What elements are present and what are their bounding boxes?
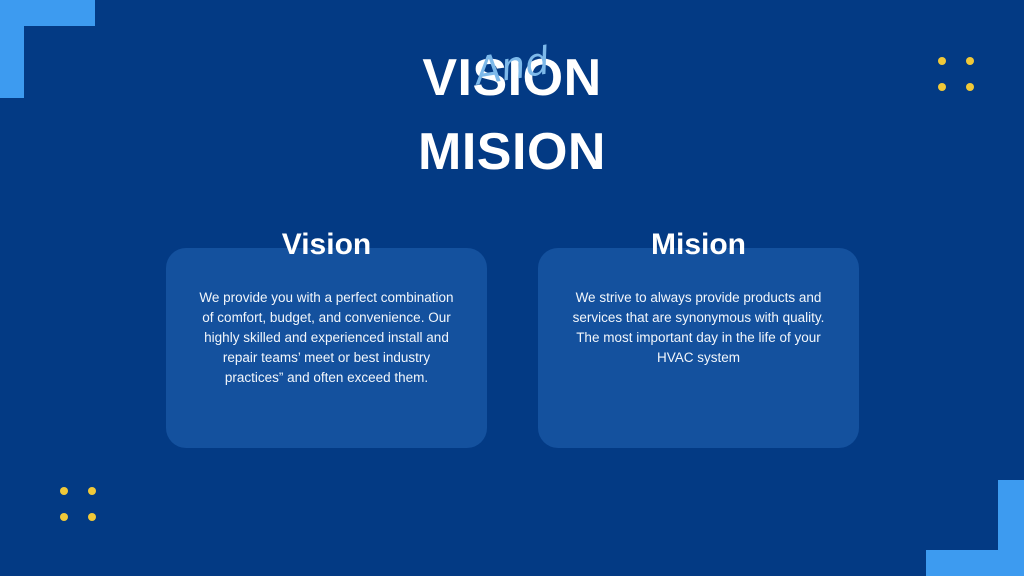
dot bbox=[88, 487, 96, 495]
card-mision-heading: Mision bbox=[538, 228, 859, 262]
card-vision-body: We provide you with a perfect combinatio… bbox=[192, 288, 461, 388]
title-line-mision: MISION bbox=[0, 126, 1024, 178]
title-line-vision: VISION bbox=[0, 52, 1024, 104]
slide-title: VISION MISION bbox=[0, 52, 1024, 178]
card-vision-heading: Vision bbox=[166, 228, 487, 262]
dot bbox=[60, 487, 68, 495]
card-vision: Vision We provide you with a perfect com… bbox=[166, 248, 487, 448]
dot bbox=[60, 513, 68, 521]
card-mision-body: We strive to always provide products and… bbox=[564, 288, 833, 368]
card-mision: Mision We strive to always provide produ… bbox=[538, 248, 859, 448]
dot-grid-bottom-left-icon bbox=[60, 487, 96, 521]
slide-canvas: VISION MISION And Vision We provide you … bbox=[0, 0, 1024, 576]
corner-bracket-bottom-right-icon bbox=[926, 480, 1024, 576]
bracket-arm-vertical bbox=[998, 480, 1024, 576]
dot bbox=[88, 513, 96, 521]
